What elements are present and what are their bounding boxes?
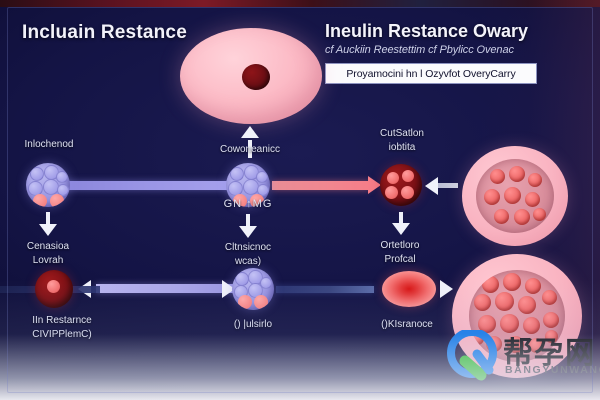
connector-bar-lower-right <box>276 286 374 293</box>
cell-subunit-red <box>47 280 60 293</box>
arrow-right-to-follicle-icon <box>440 280 453 298</box>
connector-bar-center-to-left-lower <box>96 284 234 293</box>
step-label-left-line2: Lovrah <box>33 255 64 266</box>
cell-subunit-pink <box>33 194 47 207</box>
arrow-down-center-icon <box>239 226 257 238</box>
step-label-right-line2: Profcal <box>384 254 415 265</box>
follicle-top-illustration <box>462 146 568 246</box>
step-label-left-line1: Cenasioa <box>27 241 69 252</box>
oocyte <box>494 209 509 224</box>
ovarian-cell-illustration <box>180 28 322 124</box>
oocyte <box>525 192 540 207</box>
arrow-down-left-icon <box>39 224 57 236</box>
cell-subunit-pink <box>50 194 64 207</box>
cell-subunit-red <box>387 172 399 184</box>
watermark-text-en: BANGYUNWANG <box>505 364 600 376</box>
label-center-pathway: GN ↑MG <box>213 198 283 211</box>
oocyte <box>504 187 521 204</box>
oocyte <box>474 294 491 311</box>
step-label-center-line1: Cltnsicnoc <box>225 242 271 253</box>
page-subtitle-right: cf Auckiin Reestettim cf Pbylicc Ovenac <box>325 43 551 58</box>
follicle-top-antrum <box>476 159 554 233</box>
cell-subunit-pink <box>254 295 268 309</box>
oocyte <box>543 312 559 328</box>
callout-banner: Proyamocini hn l Ozyvfot OveryCarry <box>325 63 537 84</box>
page-title-left: Incluain Restance <box>22 22 187 44</box>
oocyte <box>509 166 525 182</box>
step-label-right: Ortetloro Profcal <box>354 239 446 267</box>
header-right-block: Ineulin Restance Owary cf Auckiin Reeste… <box>325 20 551 58</box>
cell-subunit <box>30 167 44 181</box>
arrow-up-to-cell-icon <box>241 126 259 138</box>
arrow-down-right-icon <box>392 223 410 235</box>
label-node-lower-left: IIn Restarnce CIVIPPlemC) <box>2 314 122 342</box>
cell-subunit <box>256 171 268 183</box>
cell-subunit <box>235 272 249 286</box>
connector-bar-center-to-right <box>272 181 370 190</box>
bangyunwang-logo-icon <box>447 330 501 382</box>
label-node-upper-center: Cowoneanicc <box>205 143 295 156</box>
step-label-center-line2: wcas) <box>235 256 261 267</box>
label-node-upper-right-line1: CutSatlon <box>380 128 424 139</box>
oocyte <box>495 292 514 311</box>
node-lower-right[interactable] <box>382 271 436 307</box>
page-title-right: Ineulin Restance Owary <box>325 20 551 42</box>
step-label-center: Cltnsicnoc wcas) <box>203 241 293 269</box>
oocyte <box>484 189 500 205</box>
node-upper-right[interactable] <box>380 164 422 206</box>
oocyte <box>533 208 546 221</box>
step-label-right-line1: Ortetloro <box>381 240 420 251</box>
label-node-upper-left: Inlochenod <box>6 138 92 151</box>
callout-banner-text: Proyamocini hn l Ozyvfot OveryCarry <box>346 68 515 80</box>
cell-subunit <box>56 171 68 183</box>
label-node-lower-left-line2: CIVIPPlemC) <box>32 329 91 340</box>
cell-subunit-pink <box>238 295 252 309</box>
cell-nucleus <box>242 64 270 90</box>
watermark: 帮孕网 BANGYUNWANG <box>447 330 597 392</box>
label-node-upper-right: CutSatlon iobtita <box>352 127 452 155</box>
cell-subunit-red <box>401 186 414 199</box>
oocyte <box>518 296 536 314</box>
step-label-left: Cenasioa Lovrah <box>2 240 94 268</box>
oocyte <box>503 273 521 291</box>
label-node-lower-left-line1: IIn Restarnce <box>32 315 91 326</box>
label-node-upper-right-line2: iobtita <box>389 142 416 153</box>
node-upper-left[interactable] <box>26 163 70 207</box>
oocyte <box>482 276 499 293</box>
diagram-canvas: Incluain Restance Ineulin Restance Owary… <box>0 0 600 400</box>
oocyte <box>514 209 530 225</box>
top-accent-strip <box>0 0 600 7</box>
oocyte <box>490 169 505 184</box>
node-lower-center[interactable] <box>232 268 274 310</box>
cell-subunit-red <box>385 186 398 199</box>
oocyte <box>525 278 541 294</box>
node-lower-left[interactable] <box>35 270 73 308</box>
oocyte <box>528 173 542 187</box>
connector-bar-left-to-center <box>62 181 244 190</box>
cell-subunit-red <box>402 170 414 182</box>
arrow-left-from-follicle-icon <box>425 177 438 195</box>
oocyte <box>542 290 557 305</box>
label-node-lower-center: () |ulsirlo <box>200 318 306 331</box>
cell-subunit <box>230 167 244 181</box>
